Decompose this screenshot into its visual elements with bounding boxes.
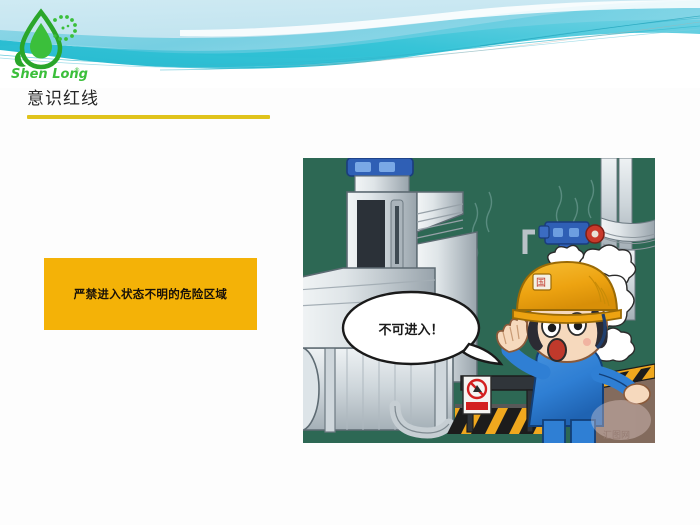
page-title: 意识红线: [27, 88, 327, 110]
warning-callout-text: 严禁进入状态不明的危险区域: [74, 286, 227, 302]
title-underline: [27, 115, 270, 119]
header-banner: [0, 0, 700, 88]
warning-callout-box: 严禁进入状态不明的危险区域: [44, 258, 257, 330]
slide-root: Shen Long ® 意识红线 严禁进入状态不明的危险区域: [0, 0, 700, 525]
speech-bubble-text: 不可进入！: [378, 323, 443, 338]
droplet-inner: [30, 23, 52, 59]
svg-text:汇图网: 汇图网: [603, 430, 630, 441]
registered-mark-icon: ®: [74, 67, 80, 74]
svg-text:国: 国: [536, 277, 546, 289]
slide-title-block: 意识红线: [27, 88, 327, 119]
no-entry-sign: [463, 376, 491, 414]
worker-mouth: [548, 339, 566, 361]
column-window: [357, 200, 385, 276]
safety-cartoon-image: 国 不可进入！ 汇图网: [303, 158, 655, 443]
shen-long-logo: Shen Long ®: [8, 6, 96, 84]
